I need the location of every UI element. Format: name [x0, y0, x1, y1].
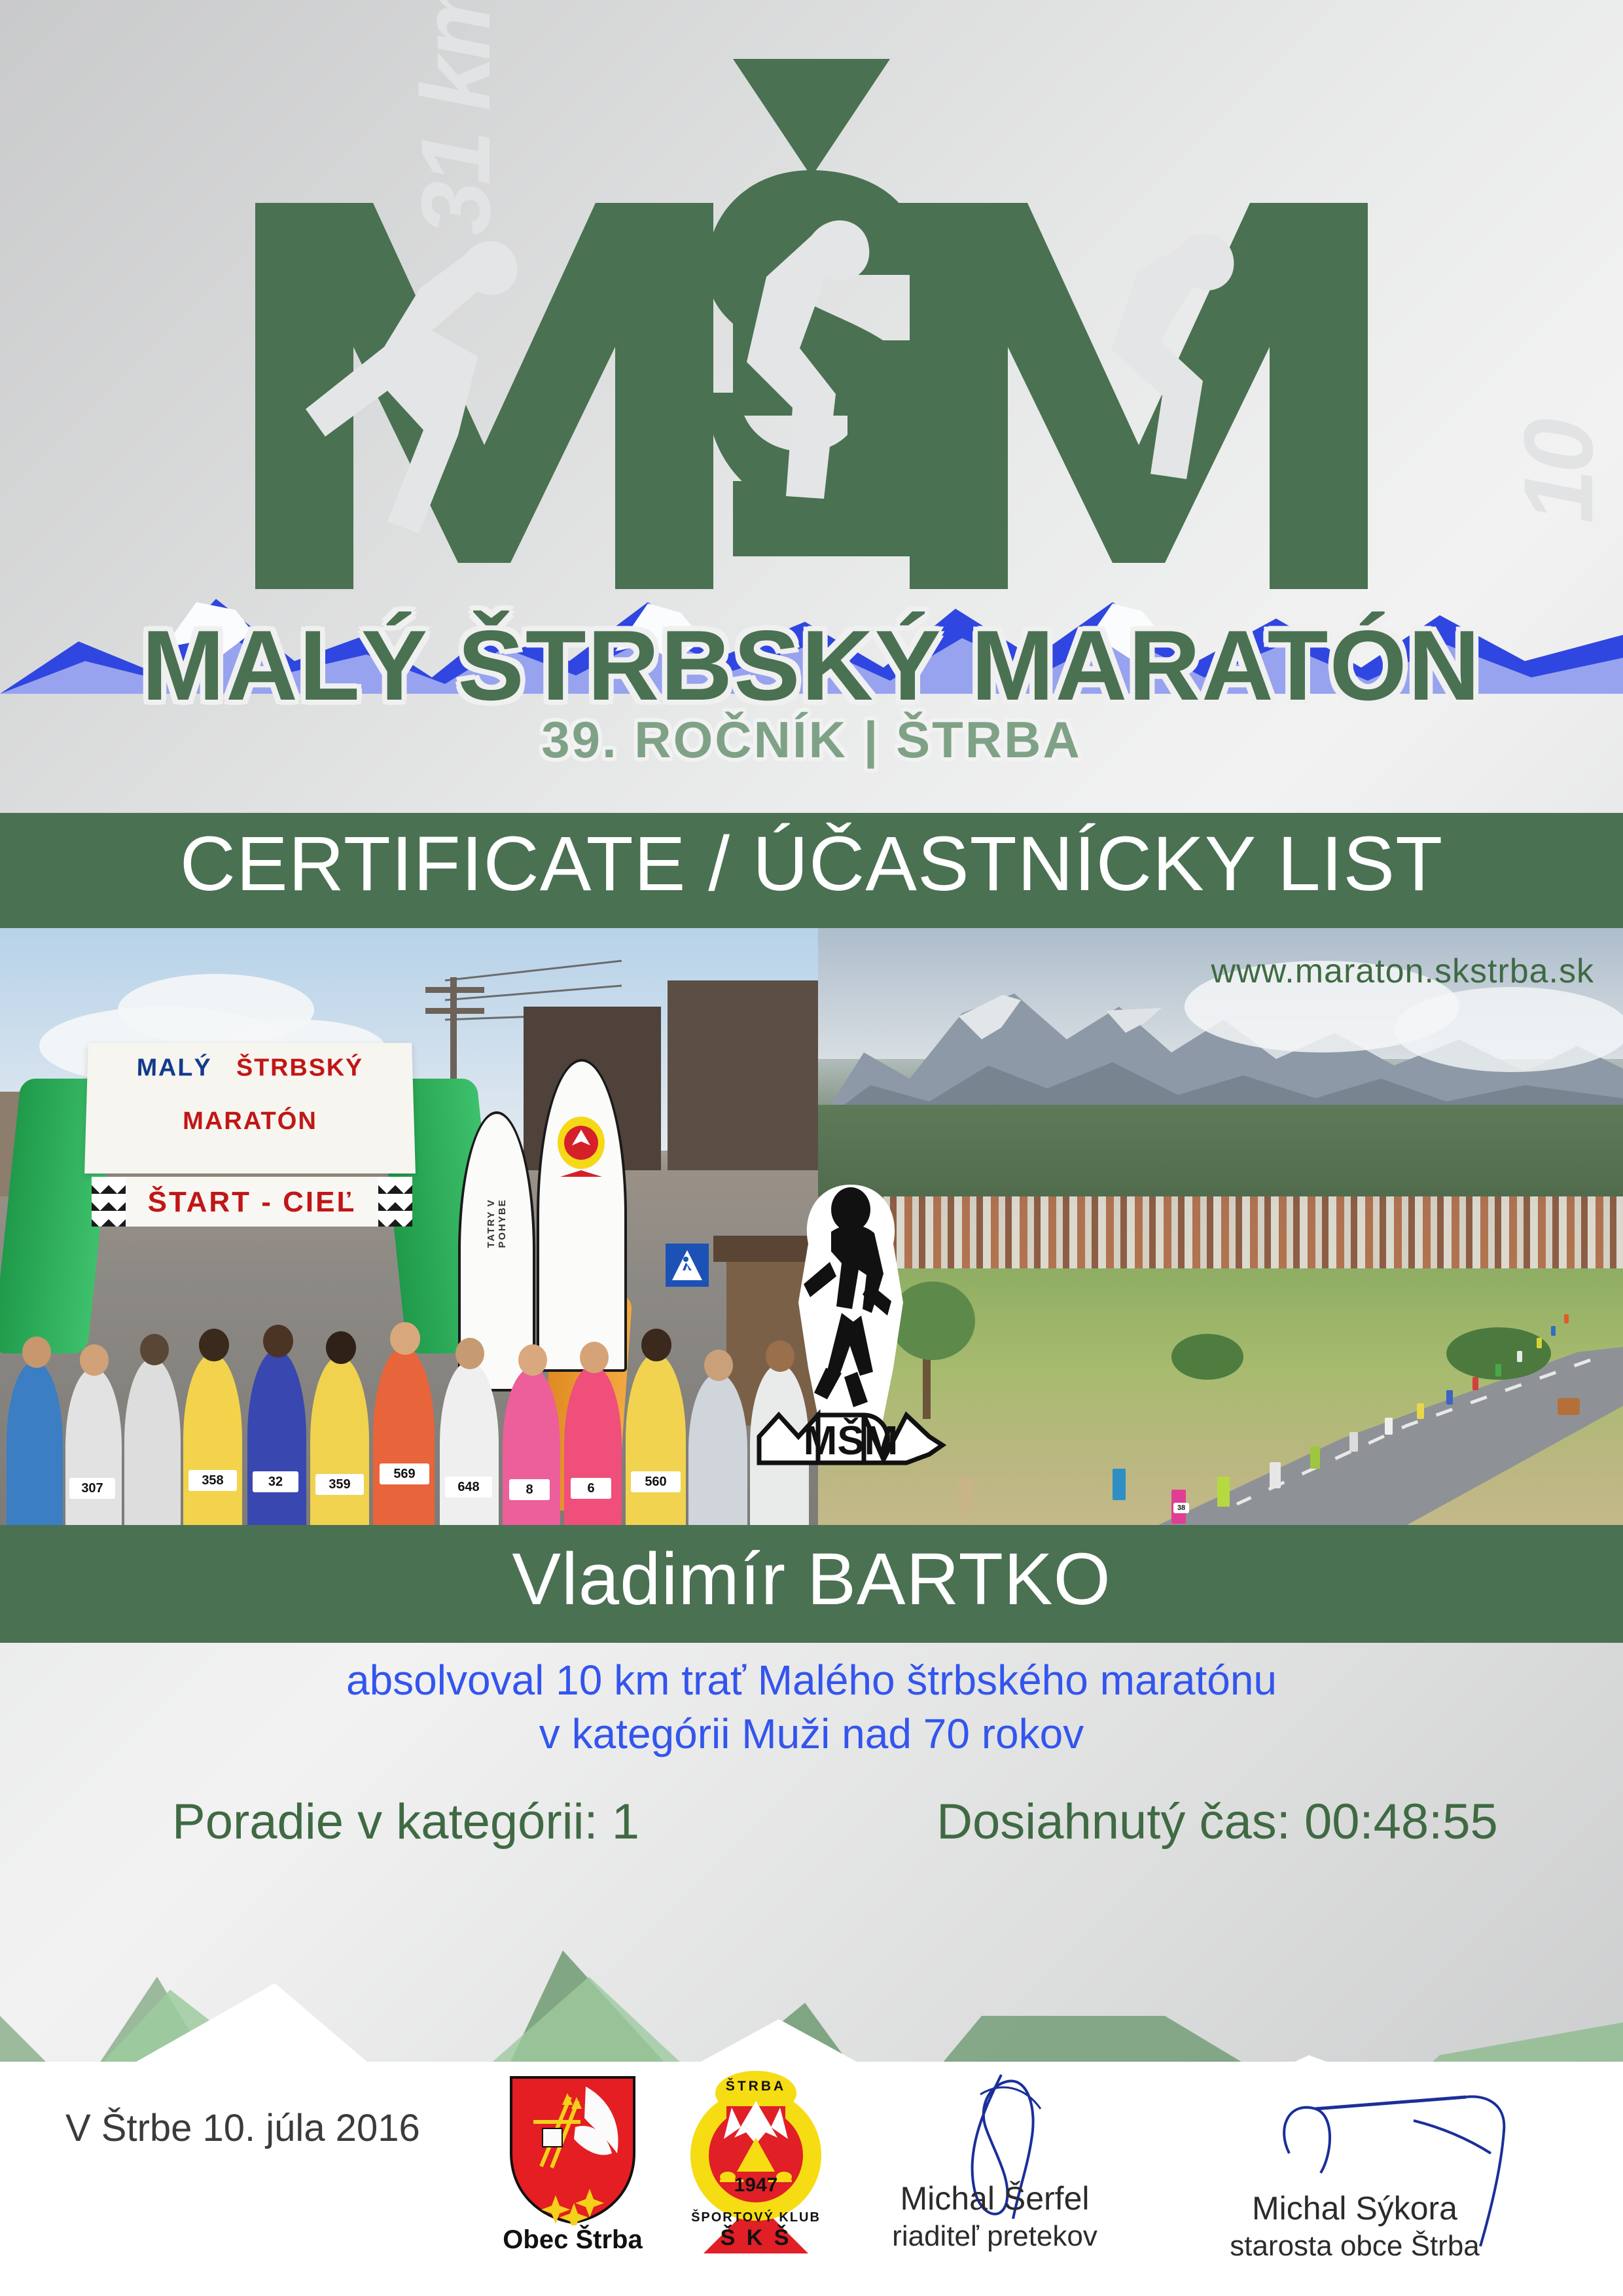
sks-mini-logo [554, 1114, 609, 1177]
runner-head [263, 1325, 293, 1357]
crest-label: Obec Štrba [484, 2225, 661, 2255]
arch-line-2: MARATÓN [86, 1107, 415, 1136]
distant-runner [1385, 1418, 1393, 1435]
runner-figure [564, 1365, 622, 1525]
runner-head [390, 1322, 420, 1355]
runner-bib: 307 [69, 1478, 115, 1499]
runner-figure [688, 1373, 747, 1525]
spectator [1113, 1469, 1126, 1500]
runner-figure [440, 1361, 499, 1525]
signatory-block-mayor: Michal Sýkora starosta obce Štrba [1217, 2189, 1492, 2263]
finish-time: Dosiahnutý čas: 00:48:55 [811, 1793, 1623, 1850]
runner-bib: 38 [1173, 1503, 1189, 1513]
runner-head [455, 1338, 484, 1369]
signatory-block-director: Michal Šerfel riaditeľ pretekov [857, 2179, 1132, 2253]
logo-subtitle: 39. ROČNÍK | ŠTRBA [0, 710, 1623, 770]
distant-runner [1564, 1314, 1569, 1323]
arch-word-maly: MALÝ [136, 1054, 211, 1081]
distant-runner [1270, 1462, 1281, 1488]
runner-crowd: 307 358 32 359 569 648 [0, 1309, 818, 1525]
msm-runner-badge: MŠM [753, 1172, 949, 1479]
distance-left-label: 31 km [399, 0, 512, 236]
runner-figure [626, 1354, 686, 1525]
runner-figure [373, 1347, 435, 1525]
distant-runner [1472, 1377, 1478, 1390]
strba-coat-of-arms [507, 2075, 638, 2225]
signatory-role: starosta obce Štrba [1217, 2230, 1492, 2263]
club-year: 1947 [734, 2174, 778, 2196]
distant-runner [1310, 1446, 1320, 1469]
distant-runner [1446, 1390, 1453, 1405]
sks-strba-club-logo: ŠTRBA 1947 ŠPORTOVÝ KLUB Š K Š [681, 2067, 831, 2257]
signatory-name: Michal Sýkora [1217, 2189, 1492, 2227]
distance-right-label: 10 km [1502, 389, 1623, 524]
runner-figure [7, 1361, 63, 1525]
runner-head [80, 1344, 109, 1376]
runner-head [326, 1331, 356, 1364]
runner-bib: 569 [380, 1463, 429, 1484]
arch-word-maraton: MARATÓN [183, 1107, 317, 1135]
spectator [959, 1478, 973, 1513]
club-arc-label: ŠPORTOVÝ KLUB [691, 2209, 821, 2225]
msm-letters-svg [157, 39, 1466, 589]
distant-runner [1517, 1351, 1522, 1362]
runner-bib: 8 [509, 1479, 550, 1500]
runner-bib: 6 [571, 1478, 611, 1499]
runner-figure [503, 1368, 560, 1525]
start-finish-banner: ŠTART - CIEĽ [92, 1177, 412, 1227]
club-abbr: Š K Š [721, 2225, 792, 2250]
runner-head [518, 1344, 547, 1376]
runner-bib: 359 [315, 1474, 364, 1495]
arch-line-1: MALÝ ŠTRBSKÝ [87, 1054, 413, 1082]
cloud-shape [1394, 987, 1623, 1072]
runner-head [140, 1334, 169, 1365]
photo-start-line: MALÝ ŠTRBSKÝ MARATÓN ŠTART - CIEĽ TATRY … [0, 928, 818, 1525]
logo-title: MALÝ ŠTRBSKÝ MARATÓN [0, 609, 1623, 723]
runner-bib: 560 [631, 1471, 681, 1492]
runner-head [199, 1329, 229, 1361]
achievement-line-1: absolvoval 10 km trať Malého štrbského m… [0, 1656, 1623, 1704]
category-rank: Poradie v kategórii: 1 [0, 1793, 811, 1850]
runner-head [641, 1329, 671, 1361]
distant-runner [1217, 1477, 1230, 1507]
distant-runner [1417, 1403, 1424, 1419]
achievement-line-2: v kategórii Muži nad 70 rokov [0, 1710, 1623, 1758]
runner-bib: 648 [445, 1477, 492, 1498]
msm-logo-mark: 31 km 10 km [157, 39, 1466, 589]
flag-text: TATRY V POHYBE [486, 1187, 508, 1259]
distant-runner [1495, 1364, 1501, 1376]
distant-runner [1349, 1432, 1358, 1452]
club-top-label: ŠTRBA [726, 2078, 786, 2094]
results-row: Poradie v kategórii: 1 Dosiahnutý čas: 0… [0, 1793, 1623, 1850]
start-finish-label: ŠTART - CIEĽ [92, 1186, 412, 1219]
cow [1558, 1398, 1580, 1415]
certificate-band-label: CERTIFICATE / ÚČASTNÍCKY LIST [0, 819, 1623, 908]
runner-figure [183, 1354, 242, 1525]
badge-text: MŠM [804, 1418, 899, 1463]
distant-runner [1537, 1338, 1542, 1348]
arch-word-strbsky: ŠTRBSKÝ [236, 1054, 364, 1081]
runner-figure [247, 1350, 306, 1525]
participant-name: Vladimír BARTKO [0, 1537, 1623, 1621]
distant-runner [1551, 1326, 1556, 1336]
runner-figure [310, 1356, 369, 1525]
event-logo: 31 km 10 km MALÝ ŠTRBSKÝ MARATÓN 39. ROČ… [0, 0, 1623, 813]
runner-figure [65, 1368, 122, 1525]
pedestrian-crossing-sign [664, 1242, 710, 1288]
signatory-name: Michal Šerfel [857, 2179, 1132, 2217]
website-url: www.maraton.skstrba.sk [1211, 952, 1595, 991]
runner-bib: 32 [253, 1471, 298, 1492]
runner-head [704, 1350, 733, 1381]
runner-head [580, 1342, 609, 1373]
building [668, 980, 818, 1170]
certificate-page: 31 km 10 km MALÝ ŠTRBSKÝ MARATÓN 39. ROČ… [0, 0, 1623, 2296]
inflatable-arch-banner: MALÝ ŠTRBSKÝ MARATÓN [84, 1043, 416, 1174]
runner-head [22, 1336, 51, 1368]
runner-bib: 358 [188, 1470, 237, 1491]
issue-date: V Štrbe 10. júla 2016 [65, 2106, 420, 2150]
signatory-role: riaditeľ pretekov [857, 2220, 1132, 2253]
bush [1171, 1334, 1243, 1380]
runner-figure [124, 1358, 181, 1525]
